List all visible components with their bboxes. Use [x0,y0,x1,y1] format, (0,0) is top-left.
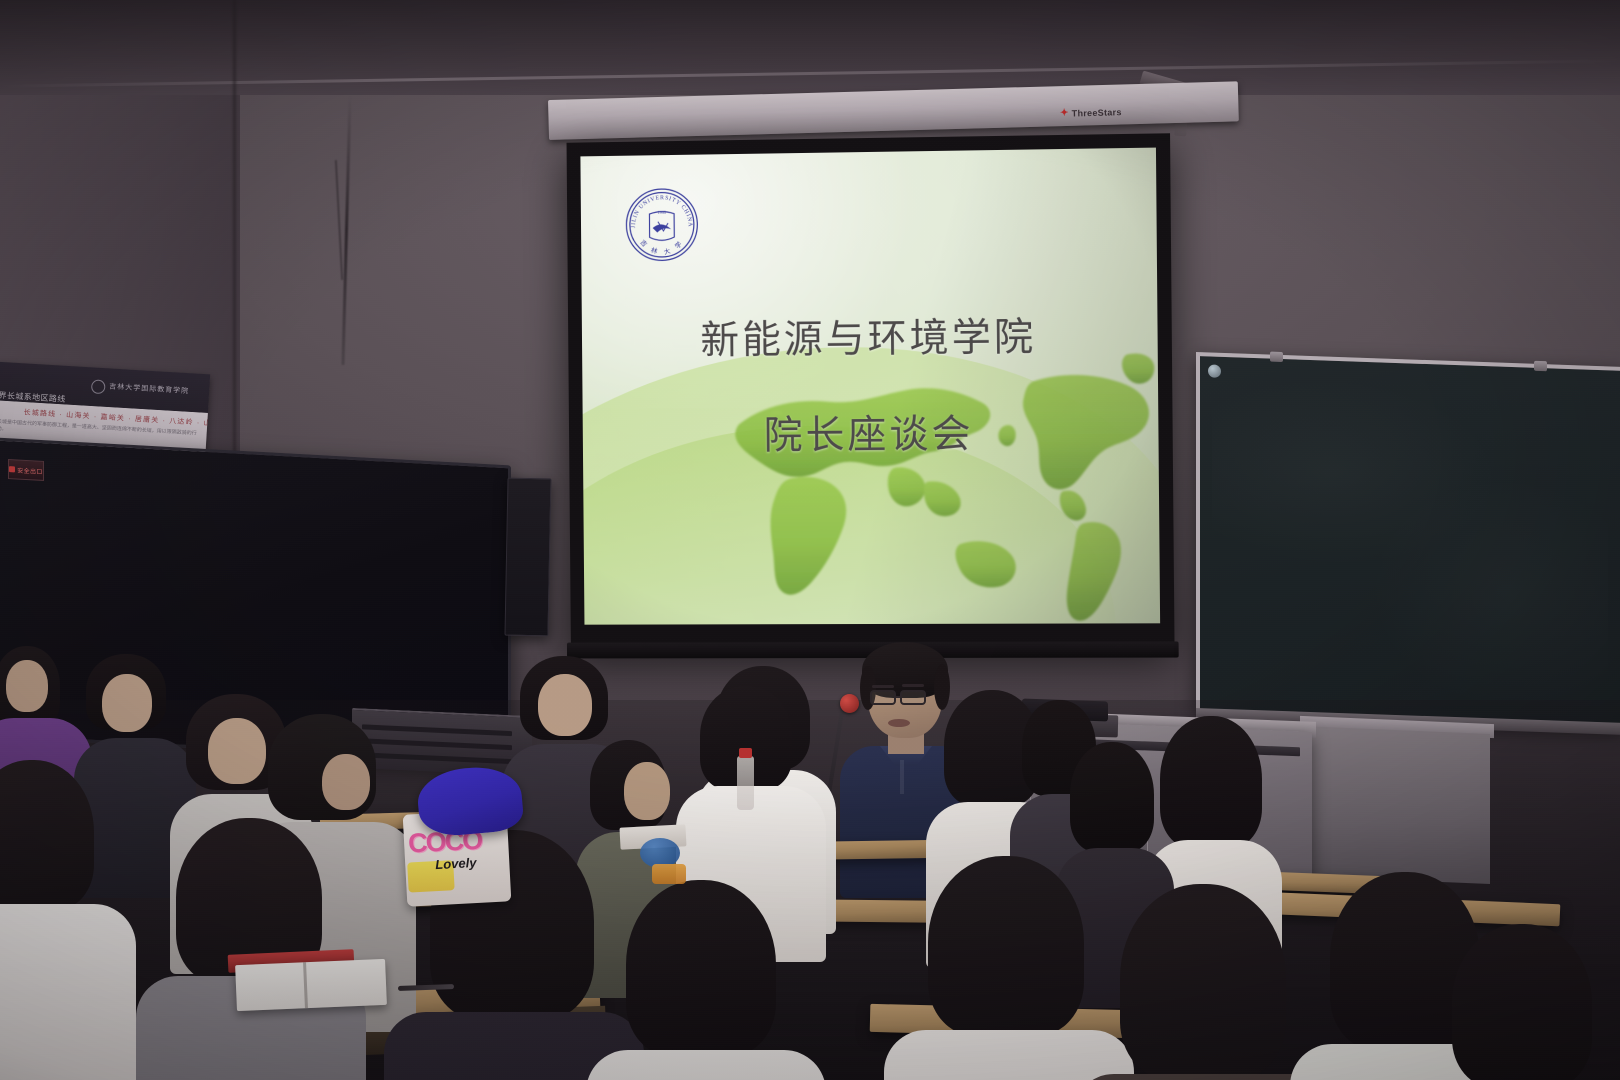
person-torso [0,904,136,1080]
side-cabinet [1300,726,1490,884]
poster-title: 界长城系地区路线 [0,390,66,405]
bag-sub-text: Lovely [435,855,477,872]
microphone-head-icon [840,694,859,713]
emergency-exit-sign: 安全出口 [8,459,44,481]
glasses-lens-right [900,690,926,705]
person-head [538,674,592,736]
open-notebook[interactable] [235,959,387,1011]
chalkboard-magnet-icon [1208,364,1221,377]
presentation-slide: JILIN UNIVERSITY CHINA 吉 林 大 学 1946 [580,148,1160,625]
presenter-placket [900,760,904,794]
person-hair [928,856,1084,1036]
screen-brand-label: ✦ ThreeStars [1060,107,1122,119]
chalk-residue [1212,369,1608,713]
presenter-hair-right [934,664,950,710]
chalkboard-clip [1270,352,1283,362]
brand-text: ThreeStars [1072,107,1122,118]
university-seal-logo: JILIN UNIVERSITY CHINA 吉 林 大 学 1946 [623,185,701,264]
slide-title-block: 新能源与环境学院 院长座谈会 [582,305,1159,462]
person-hair [626,880,776,1056]
person-head [208,718,266,784]
chalkboard [1196,352,1620,729]
person-head [102,674,152,732]
slide-title-secondary: 院长座谈会 [583,401,1159,461]
person-head [624,762,670,820]
person-head [322,754,370,810]
person-hair [1452,924,1592,1080]
snack-item [652,864,686,884]
poster-header: 吉林大学国际教育学院 [109,381,189,396]
slide-title-primary: 新能源与环境学院 [582,305,1158,367]
exit-label: 安全出口 [17,465,43,475]
person-head [6,660,48,712]
projection-screen[interactable]: JILIN UNIVERSITY CHINA 吉 林 大 学 1946 [567,133,1175,646]
svg-text:1946: 1946 [658,210,666,215]
presenter-brow-left [872,685,894,688]
exit-dot-icon [9,466,15,472]
water-bottle[interactable] [737,756,754,810]
person-hair [1120,884,1286,1080]
presenter-mouth [888,719,910,727]
presenter-brow-right [902,684,924,687]
wall-speaker [504,478,551,637]
classroom-photo-scene: ✦ ThreeStars [0,0,1620,1080]
person-hair [1070,742,1154,852]
poster-seal-icon [91,379,106,394]
person-torso [884,1030,1134,1080]
projected-image-area: JILIN UNIVERSITY CHINA 吉 林 大 学 1946 [580,148,1160,625]
person-hair [1160,716,1262,848]
glasses-lens-left [870,690,896,705]
bottle-cap [739,748,752,758]
person-torso [586,1050,826,1080]
brand-star-icon: ✦ [1060,109,1069,119]
chalkboard-clip [1534,361,1547,371]
glasses-bridge [895,696,902,698]
